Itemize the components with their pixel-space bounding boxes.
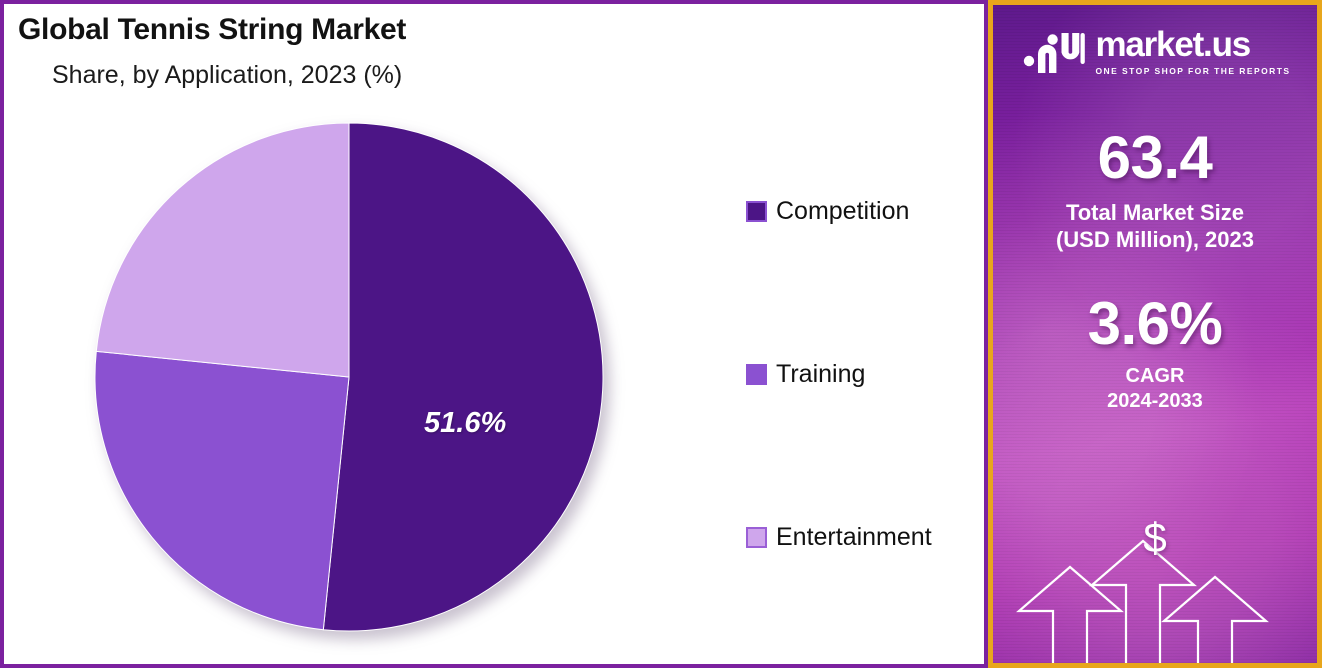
legend-swatch-icon xyxy=(746,527,767,548)
market-size-caption: Total Market Size (USD Million), 2023 xyxy=(1056,200,1254,254)
market-size-caption-line1: Total Market Size xyxy=(1056,200,1254,227)
legend-item-label: Competition xyxy=(776,199,909,224)
pie-slice-competition[interactable] xyxy=(323,123,603,631)
logo-mark-icon xyxy=(1023,30,1085,74)
cagr-caption-line2: 2024-2033 xyxy=(1088,389,1223,414)
cagr-caption: CAGR 2024-2033 xyxy=(1088,364,1223,414)
chart-subtitle: Share, by Application, 2023 (%) xyxy=(52,60,738,90)
market-us-logo[interactable]: market.us ONE STOP SHOP FOR THE REPORTS xyxy=(1023,27,1290,76)
legend-item-label: Entertainment xyxy=(776,525,932,550)
chart-panel: Global Tennis String Market Share, by Ap… xyxy=(0,0,988,668)
pie-slice-training[interactable] xyxy=(95,351,349,629)
legend-item-training[interactable]: Training xyxy=(746,357,976,391)
dollar-sign-icon: $ xyxy=(993,517,1317,559)
infographic-root: Global Tennis String Market Share, by Ap… xyxy=(0,0,1322,668)
page-title: Global Tennis String Market xyxy=(18,12,738,48)
market-size-caption-line2: (USD Million), 2023 xyxy=(1056,227,1254,254)
legend-item-competition[interactable]: Competition xyxy=(746,194,976,228)
cagr-stat: 3.6% CAGR 2024-2033 xyxy=(1088,294,1223,414)
pie-chart: 51.6% xyxy=(94,122,610,638)
cagr-value: 3.6% xyxy=(1088,294,1223,354)
legend-swatch-icon xyxy=(746,364,767,385)
stats-panel: market.us ONE STOP SHOP FOR THE REPORTS … xyxy=(988,0,1322,668)
logo-wordmark: market.us xyxy=(1095,27,1290,62)
legend-swatch-icon xyxy=(746,201,767,222)
market-size-value: 63.4 xyxy=(1056,128,1254,188)
pie-svg xyxy=(94,122,604,632)
pie-slice-label-competition: 51.6% xyxy=(424,407,506,440)
legend: Competition Training Entertainment xyxy=(746,194,976,554)
pie-slice-entertainment[interactable] xyxy=(96,123,349,377)
market-size-stat: 63.4 Total Market Size (USD Million), 20… xyxy=(1056,128,1254,254)
chart-header: Global Tennis String Market Share, by Ap… xyxy=(18,12,738,90)
legend-item-label: Training xyxy=(776,362,865,387)
logo-tagline: ONE STOP SHOP FOR THE REPORTS xyxy=(1095,66,1290,76)
legend-item-entertainment[interactable]: Entertainment xyxy=(746,520,976,554)
cagr-caption-line1: CAGR xyxy=(1088,364,1223,389)
